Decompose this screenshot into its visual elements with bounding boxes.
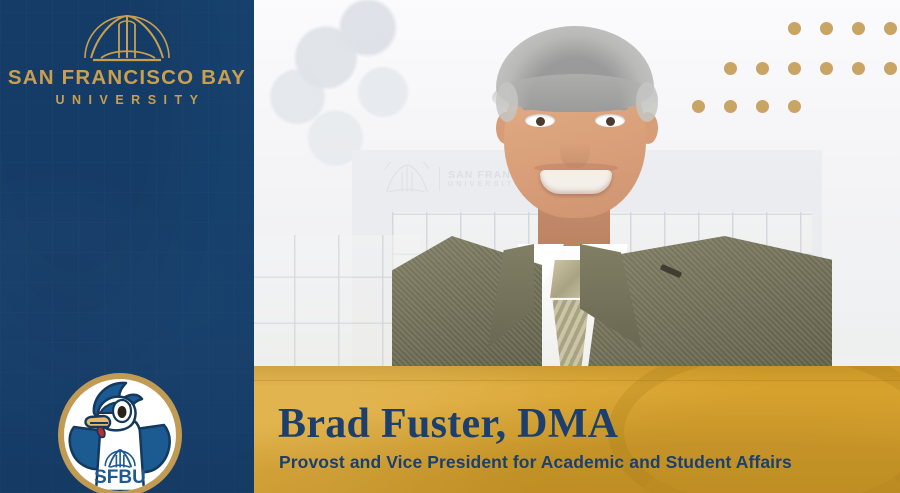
wordmark-line2: UNIVERSITY — [0, 93, 254, 107]
temple-right — [636, 82, 658, 122]
decor-dot — [852, 62, 865, 75]
eye-left — [525, 114, 555, 127]
nose — [560, 126, 590, 168]
wordmark-line1: SAN FRANCISCO BAY — [0, 66, 254, 90]
gold-bar-path-texture — [608, 366, 900, 493]
eye-right — [595, 114, 625, 127]
mascot-jersey-text: SFBU — [94, 467, 146, 488]
pupil-left — [536, 117, 545, 126]
golden-gate-bridge-icon — [79, 6, 175, 64]
blue-jay-mascot-icon: SFBU — [64, 379, 176, 491]
person-title: Provost and Vice President for Academic … — [279, 452, 792, 473]
hair — [496, 26, 654, 112]
profile-banner-graphic: SAN FRANCISCO BAY UNIVERSITY — [0, 0, 900, 493]
person-name: Brad Fuster, DMA — [278, 400, 618, 448]
pupil-right — [606, 117, 615, 126]
temple-left — [496, 82, 518, 122]
sfbu-mascot-seal: SFBU — [58, 373, 182, 493]
decor-dot — [884, 62, 897, 75]
left-brand-panel: SAN FRANCISCO BAY UNIVERSITY — [0, 0, 254, 493]
mascot-artwork: SFBU — [64, 379, 176, 491]
portrait-subject — [392, 8, 832, 368]
decor-dot — [852, 22, 865, 35]
decor-dot — [884, 22, 897, 35]
smile-mouth — [540, 170, 612, 194]
university-wordmark: SAN FRANCISCO BAY UNIVERSITY — [0, 6, 254, 107]
